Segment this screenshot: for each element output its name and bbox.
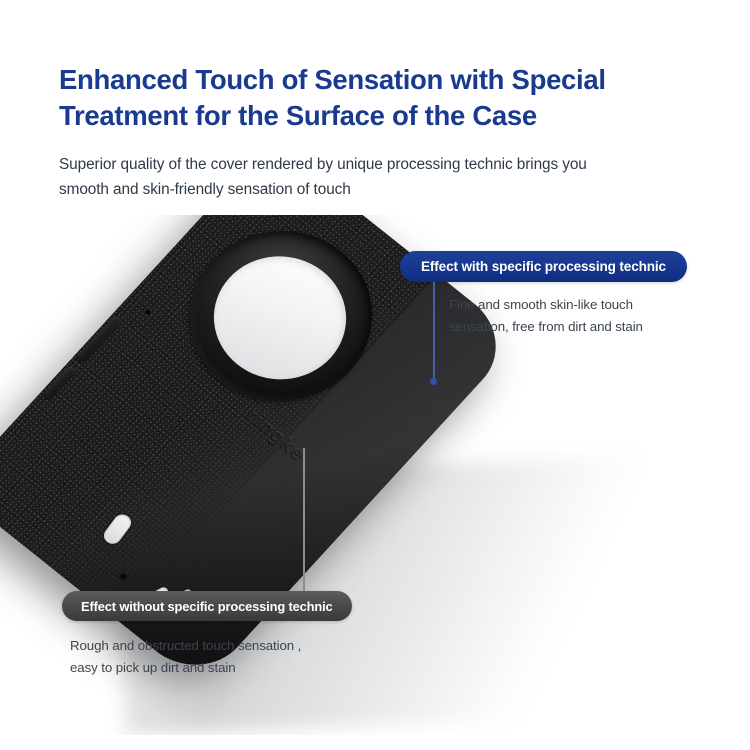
- callout-negative-description: Rough and obstructed touch sensation , e…: [70, 635, 370, 679]
- page-subtitle-line-2: smooth and skin-friendly sensation of to…: [59, 177, 664, 202]
- page-title-line-2: Treatment for the Surface of the Case: [59, 98, 669, 134]
- badge-effect-with-technic: Effect with specific processing technic: [400, 251, 687, 282]
- callout-negative-line-1: Rough and obstructed touch sensation ,: [70, 638, 301, 653]
- callout-negative-line-2: easy to pick up dirt and stain: [70, 660, 236, 675]
- page-subtitle-line-1: Superior quality of the cover rendered b…: [59, 152, 664, 177]
- leader-line-positive: [433, 282, 435, 381]
- badge-effect-without-technic: Effect without specific processing techn…: [62, 591, 352, 621]
- leader-dot-positive: [430, 378, 437, 385]
- page-title-line-1: Enhanced Touch of Sensation with Special: [59, 62, 669, 98]
- callout-positive-line-1: Fine and smooth skin-like touch: [449, 297, 633, 312]
- product-feature-page: Enhanced Touch of Sensation with Special…: [0, 0, 750, 750]
- page-subtitle: Superior quality of the cover rendered b…: [59, 152, 664, 202]
- callout-positive-line-2: sensation, free from dirt and stain: [449, 319, 643, 334]
- page-title: Enhanced Touch of Sensation with Special…: [59, 62, 669, 134]
- leader-line-negative: [303, 448, 305, 591]
- callout-positive-description: Fine and smooth skin-like touch sensatio…: [449, 294, 679, 338]
